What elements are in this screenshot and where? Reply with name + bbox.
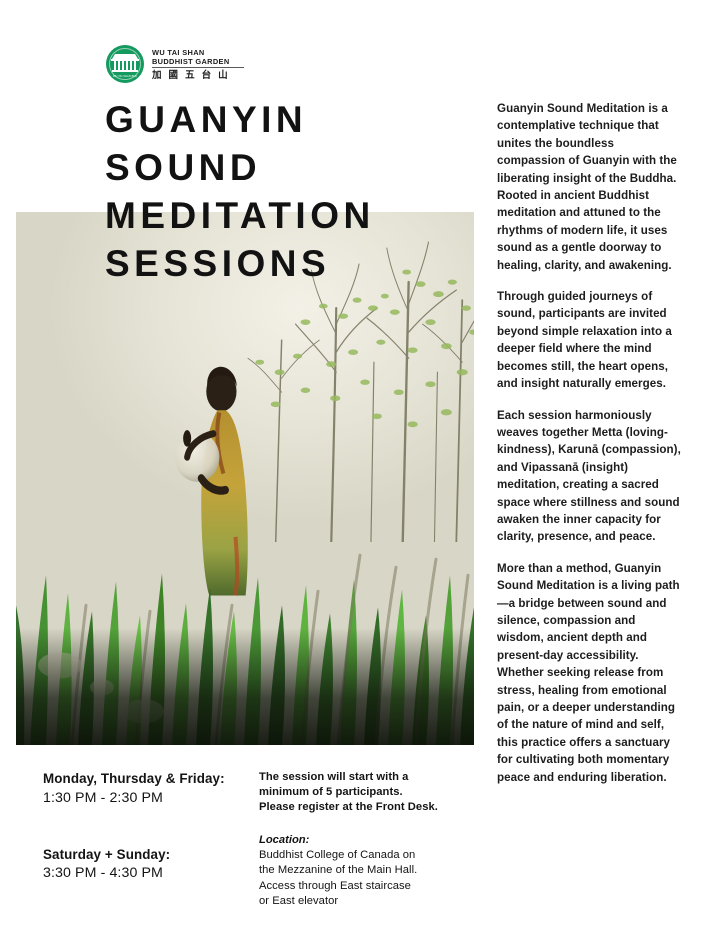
notice-block: The session will start with a minimum of… — [259, 770, 474, 910]
brand-name-line2: BUDDHIST GARDEN — [152, 57, 244, 66]
schedule-days: Monday, Thursday & Friday: — [43, 770, 238, 788]
location-label: Location: — [259, 833, 474, 848]
schedule-time: 1:30 PM - 2:30 PM — [43, 789, 238, 808]
schedule-group: Monday, Thursday & Friday: 1:30 PM - 2:3… — [43, 770, 238, 808]
brand-name-line1: WU TAI SHAN — [152, 48, 244, 57]
schedule-time: 3:30 PM - 4:30 PM — [43, 864, 238, 883]
brand-divider — [152, 67, 244, 68]
pagoda-base-icon — [112, 70, 138, 72]
page-title: GUANYIN SOUND MEDITATION SESSIONS — [105, 96, 475, 288]
brand-name-chinese: 加 國 五 台 山 — [152, 70, 244, 81]
description-paragraph: Each session harmoniously weaves togethe… — [497, 407, 685, 546]
brand-name-block: WU TAI SHAN BUDDHIST GARDEN 加 國 五 台 山 — [152, 47, 244, 82]
pagoda-columns-icon — [114, 61, 136, 70]
schedule-group: Saturday + Sunday: 3:30 PM - 4:30 PM — [43, 846, 238, 884]
brand-logo-block: WU TAI SHAN BUDDHIST GARDEN WU TAI SHAN … — [106, 45, 244, 83]
description-paragraph: More than a method, Guanyin Sound Medita… — [497, 560, 685, 786]
description-paragraph: Through guided journeys of sound, partic… — [497, 288, 685, 392]
pagoda-temple-icon: WU TAI SHAN BUDDHIST GARDEN — [106, 45, 144, 83]
description-paragraph: Guanyin Sound Meditation is a contemplat… — [497, 100, 685, 274]
description-column: Guanyin Sound Meditation is a contemplat… — [497, 100, 685, 786]
monk-with-singing-bowl-in-grass-photo — [16, 212, 474, 745]
photo-bottom-vignette — [16, 628, 474, 745]
schedule-days: Saturday + Sunday: — [43, 846, 238, 864]
registration-note: The session will start with a minimum of… — [259, 770, 474, 815]
logo-arc-text: WU TAI SHAN BUDDHIST GARDEN — [113, 74, 137, 79]
schedule-block: Monday, Thursday & Friday: 1:30 PM - 2:3… — [43, 770, 238, 883]
location-details: Buddhist College of Canada on the Mezzan… — [259, 848, 474, 910]
